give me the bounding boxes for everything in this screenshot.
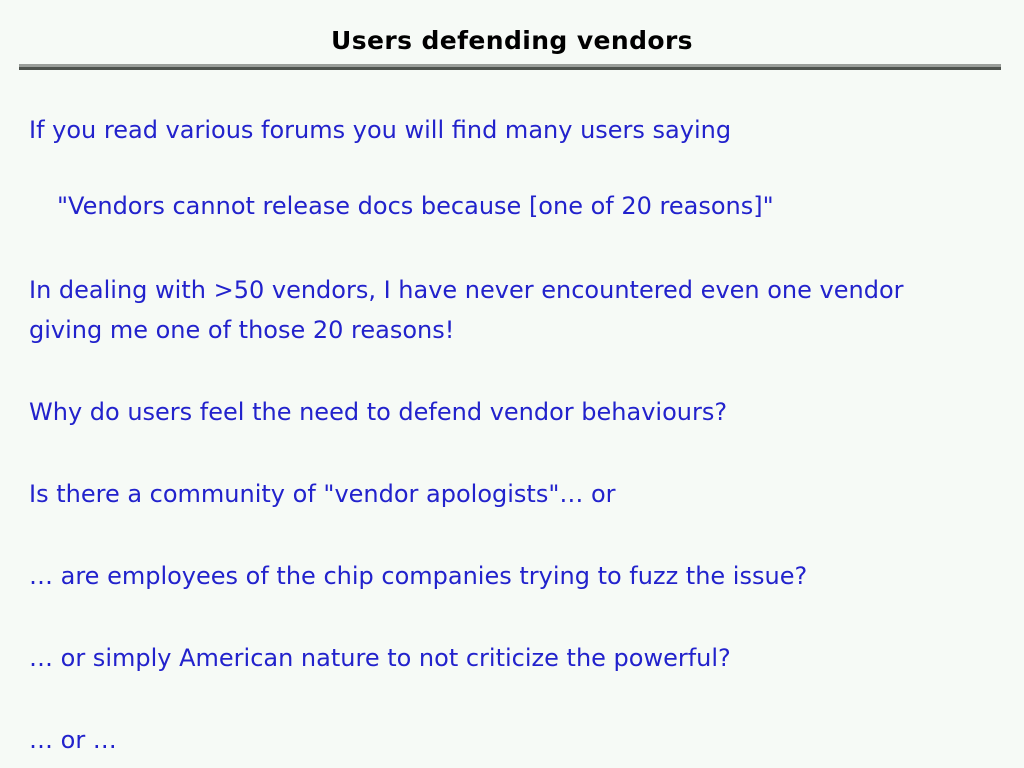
slide: Users defending vendors If you read vari…	[0, 0, 1024, 768]
spacer	[0, 678, 1024, 720]
spacer	[0, 432, 1024, 474]
body-paragraph-intro: If you read various forums you will find…	[29, 110, 929, 150]
slide-body: If you read various forums you will find…	[0, 110, 1024, 760]
divider-dark-band	[19, 67, 1001, 70]
spacer	[0, 150, 1024, 186]
body-paragraph-question-why: Why do users feel the need to defend ven…	[29, 392, 929, 432]
body-paragraph-question-employees: … are employees of the chip companies tr…	[29, 556, 929, 596]
title-divider	[19, 64, 1001, 70]
body-paragraph-trailing-or: … or …	[29, 720, 929, 760]
body-paragraph-experience: In dealing with >50 vendors, I have neve…	[29, 270, 929, 350]
page-title: Users defending vendors	[0, 26, 1024, 55]
body-paragraph-quote: "Vendors cannot release docs because [on…	[57, 186, 957, 226]
spacer	[0, 596, 1024, 638]
spacer	[0, 350, 1024, 392]
spacer	[0, 514, 1024, 556]
body-paragraph-question-community: Is there a community of "vendor apologis…	[29, 474, 929, 514]
spacer	[0, 226, 1024, 270]
body-paragraph-question-american-nature: … or simply American nature to not criti…	[29, 638, 929, 678]
